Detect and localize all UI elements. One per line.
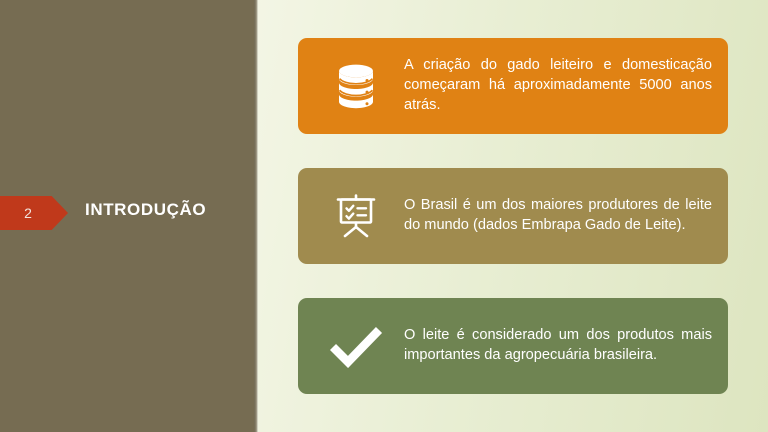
- fact-card-text: A criação do gado leiteiro e domesticaçã…: [404, 56, 714, 116]
- sidebar-divider: [254, 0, 258, 432]
- page-title: INTRODUÇÃO: [85, 200, 206, 220]
- presentation-checklist-icon: [308, 168, 404, 264]
- checkmark-icon: [308, 298, 404, 394]
- slide-canvas: 2 INTRODUÇÃO: [0, 0, 768, 432]
- database-icon: [308, 38, 404, 134]
- slide-number-text: 2: [24, 206, 32, 220]
- fact-card-list: A criação do gado leiteiro e domesticaçã…: [298, 38, 728, 394]
- fact-card[interactable]: A criação do gado leiteiro e domesticaçã…: [298, 38, 728, 134]
- fact-card-text: O Brasil é um dos maiores produtores de …: [404, 196, 714, 236]
- fact-card-text: O leite é considerado um dos produtos ma…: [404, 326, 714, 366]
- fact-card[interactable]: O leite é considerado um dos produtos ma…: [298, 298, 728, 394]
- fact-card[interactable]: O Brasil é um dos maiores produtores de …: [298, 168, 728, 264]
